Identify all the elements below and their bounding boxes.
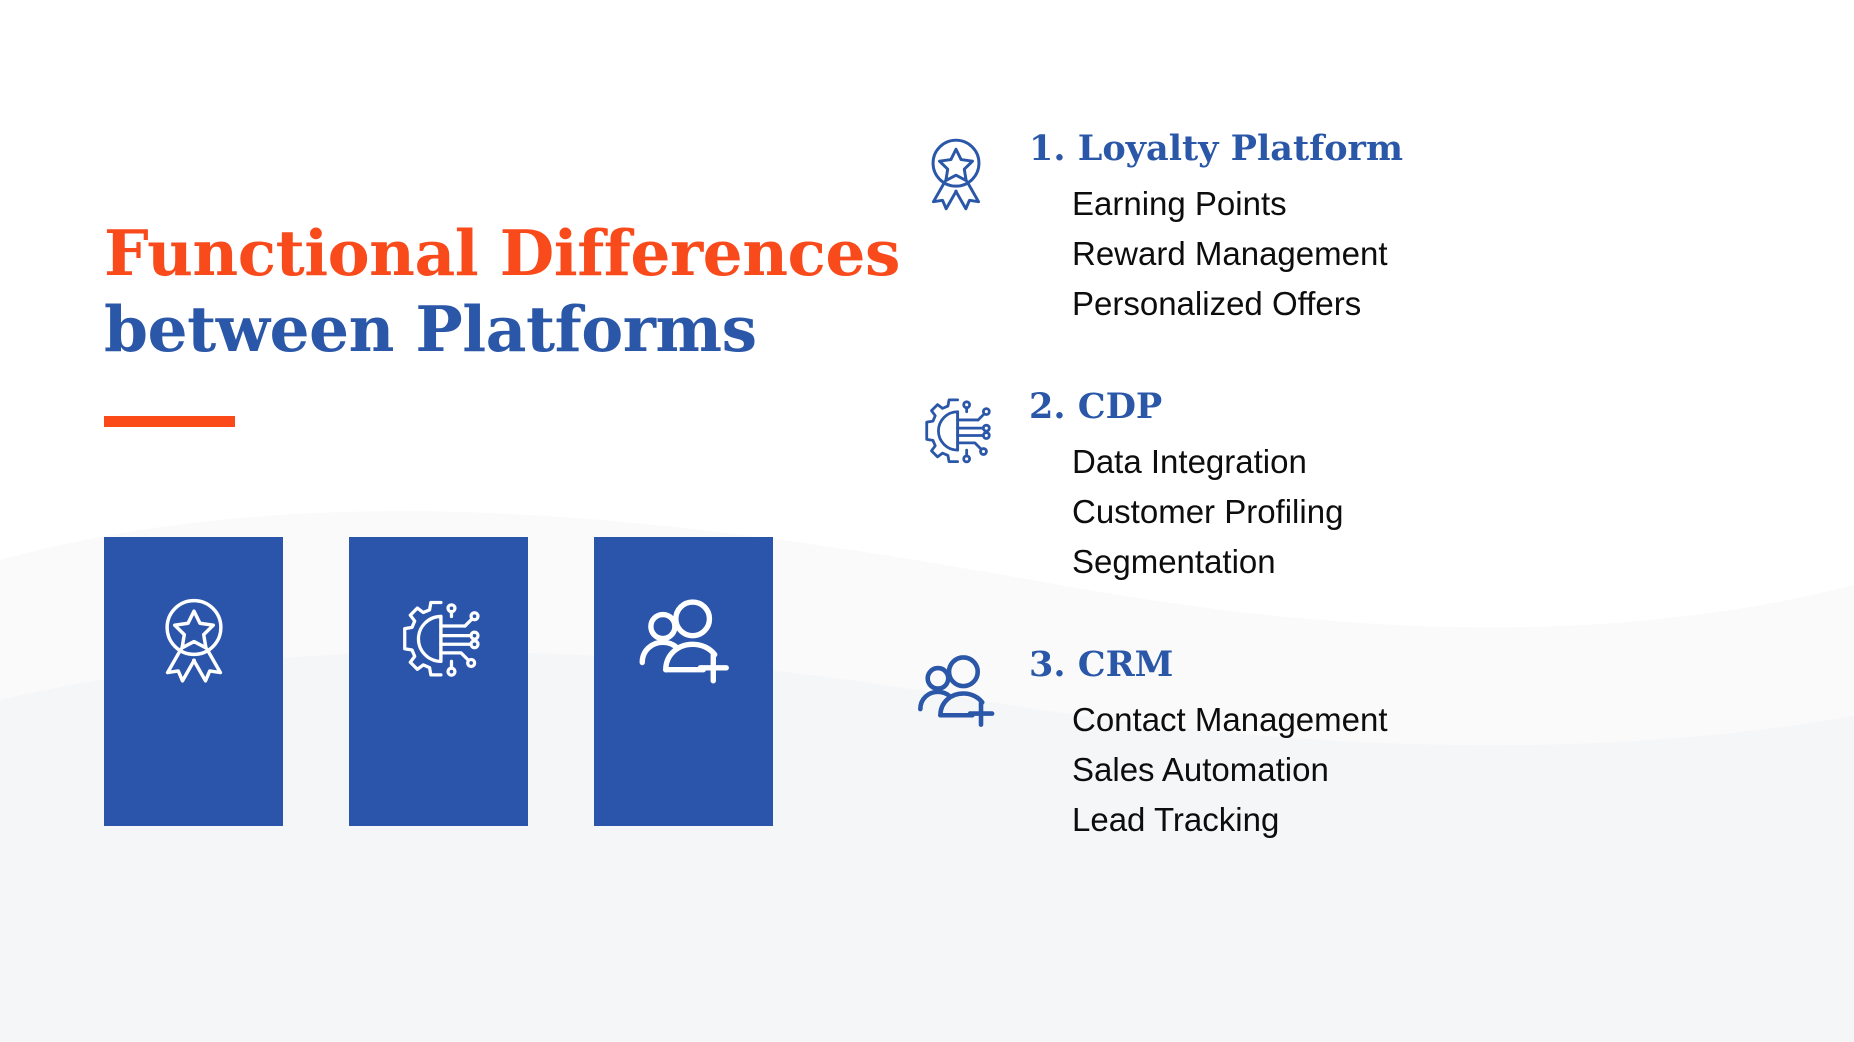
orange-rule-divider — [104, 416, 235, 427]
sections-column: 1. Loyalty Platform Earning Points Rewar… — [905, 128, 1785, 845]
section-item-list: Contact Management Sales Automation Lead… — [1029, 695, 1388, 845]
section-item-list: Data Integration Customer Profiling Segm… — [1029, 437, 1343, 587]
gear-circuit-icon — [915, 390, 997, 472]
section-body: 2. CDP Data Integration Customer Profili… — [1007, 386, 1343, 587]
title-line-1: Functional Differences — [104, 215, 864, 291]
section-item-list: Earning Points Reward Management Persona… — [1029, 179, 1403, 329]
slide-canvas: Functional Differences between Platforms — [0, 0, 1854, 1042]
list-item: Segmentation — [1072, 537, 1343, 587]
section-icon-wrap — [905, 644, 1007, 730]
card-row — [104, 537, 773, 826]
section-icon-wrap — [905, 128, 1007, 214]
section-icon-wrap — [905, 386, 1007, 472]
card-cdp — [349, 537, 528, 826]
gear-circuit-icon — [391, 591, 487, 687]
title-line-2: between Platforms — [104, 291, 864, 367]
list-item: Data Integration — [1072, 437, 1343, 487]
section-heading: 1. Loyalty Platform — [1029, 128, 1403, 170]
list-item: Reward Management — [1072, 229, 1403, 279]
list-item: Customer Profiling — [1072, 487, 1343, 537]
section-heading: 2. CDP — [1029, 386, 1343, 428]
section-body: 1. Loyalty Platform Earning Points Rewar… — [1007, 128, 1403, 329]
section-heading: 3. CRM — [1029, 644, 1388, 686]
section-crm: 3. CRM Contact Management Sales Automati… — [905, 644, 1785, 845]
list-item: Personalized Offers — [1072, 279, 1403, 329]
list-item: Lead Tracking — [1072, 795, 1388, 845]
medal-star-icon — [915, 132, 997, 214]
medal-star-icon — [146, 591, 242, 687]
card-loyalty-platform — [104, 537, 283, 826]
list-item: Sales Automation — [1072, 745, 1388, 795]
users-plus-icon — [636, 591, 732, 687]
users-plus-icon — [915, 648, 997, 730]
list-item: Contact Management — [1072, 695, 1388, 745]
section-cdp: 2. CDP Data Integration Customer Profili… — [905, 386, 1785, 587]
section-loyalty-platform: 1. Loyalty Platform Earning Points Rewar… — [905, 128, 1785, 329]
card-crm — [594, 537, 773, 826]
list-item: Earning Points — [1072, 179, 1403, 229]
section-body: 3. CRM Contact Management Sales Automati… — [1007, 644, 1388, 845]
page-title: Functional Differences between Platforms — [104, 215, 864, 367]
